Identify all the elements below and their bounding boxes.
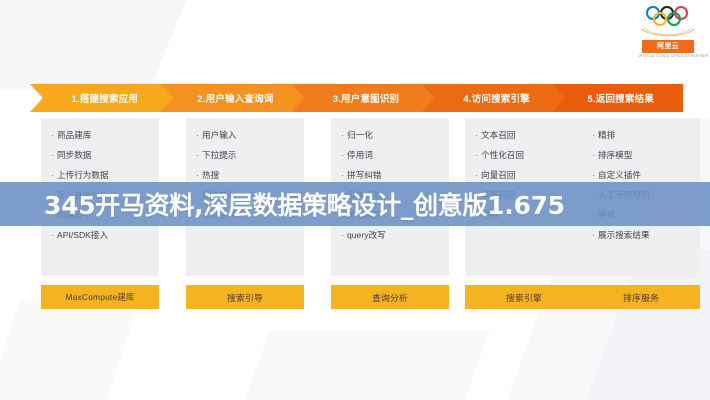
- bullet-item-label: API/SDK接入: [57, 230, 108, 241]
- alibaba-cloud-subtext: OFFICIAL CLOUD SERVICES PARTNER: [638, 54, 698, 58]
- process-step-arrow-label: 1.搭建搜索应用: [66, 91, 139, 105]
- process-step-arrow-label: 5.返回搜索结果: [581, 91, 654, 105]
- service-tag-label: 排序服务: [623, 291, 659, 304]
- service-tag-button[interactable]: 搜索引导: [186, 285, 304, 309]
- bullet-item-label: 上传行为数据: [57, 170, 109, 181]
- bullet-item: ·停用词: [341, 150, 443, 161]
- bullet-item: ·个性化召回: [475, 150, 577, 161]
- process-step-arrow-label: 3.用户意图识别: [327, 91, 400, 105]
- bullet-item: ·文本召回: [475, 130, 577, 141]
- bullet-item: ·展示搜索结果: [592, 230, 694, 241]
- service-tag-button[interactable]: MaxCompute建库: [41, 285, 159, 309]
- olympic-rings-alibaba-cloud-logo: 阿里云 OFFICIAL CLOUD SERVICES PARTNER: [638, 6, 698, 60]
- bullet-item: ·精排: [592, 130, 694, 141]
- process-step-arrow-label: 4.访问搜索引擎: [457, 91, 530, 105]
- background-shape: [230, 330, 490, 400]
- watermark-banner: 345开马资料,深层数据策略设计_创意版1.675: [0, 182, 710, 226]
- bullet-item: ·排序模型: [592, 150, 694, 161]
- bullet-item: ·热搜: [196, 170, 298, 181]
- service-tag-label: 搜索引导: [227, 291, 263, 304]
- process-step-arrow-5[interactable]: 5.返回搜索结果: [552, 84, 683, 112]
- bullet-item-label: 下拉提示: [202, 150, 236, 161]
- bullet-item: ·下拉提示: [196, 150, 298, 161]
- service-tag-label: 查询分析: [372, 291, 408, 304]
- background-shape: [0, 300, 139, 400]
- slide-canvas: 阿里云 OFFICIAL CLOUD SERVICES PARTNER 1.搭建…: [0, 0, 710, 400]
- olympic-rings-icon: [645, 6, 691, 26]
- bullet-item-label: 排序模型: [598, 150, 632, 161]
- service-tag-button[interactable]: 搜索引擎: [465, 285, 583, 309]
- bullet-item: ·向量召回: [475, 170, 577, 181]
- swoosh-icon: [640, 27, 696, 39]
- service-tag-button[interactable]: 排序服务: [582, 285, 700, 309]
- bullet-item: ·query改写: [341, 230, 443, 241]
- service-tag-button[interactable]: 查询分析: [331, 285, 449, 309]
- bullet-item: ·商品建库: [51, 130, 153, 141]
- bullet-item-label: 归一化: [347, 130, 373, 141]
- process-step-arrow-1[interactable]: 1.搭建搜索应用: [30, 84, 174, 112]
- alibaba-cloud-wordmark: 阿里云: [642, 40, 694, 53]
- bullet-item: ·API/SDK接入: [51, 230, 153, 241]
- bullet-item: ·同步数据: [51, 150, 153, 161]
- bullet-item: ·拼写纠错: [341, 170, 443, 181]
- bullet-item: ·自定义插件: [592, 170, 694, 181]
- bullet-item-label: query改写: [347, 230, 386, 241]
- service-tag-label: MaxCompute建库: [66, 291, 135, 303]
- bullet-item-label: 用户输入: [202, 130, 236, 141]
- bullet-item-label: 商品建库: [57, 130, 91, 141]
- bullet-item-label: 精排: [598, 130, 615, 141]
- process-step-arrow-label: 2.用户输入查询词: [191, 91, 273, 105]
- bullet-item: ·归一化: [341, 130, 443, 141]
- bullet-item-label: 拼写纠错: [347, 170, 381, 181]
- process-arrow-ribbon: 1.搭建搜索应用2.用户输入查询词3.用户意图识别4.访问搜索引擎5.返回搜索结…: [30, 84, 683, 112]
- bullet-item-label: 热搜: [202, 170, 219, 181]
- bullet-item-label: 自定义插件: [598, 170, 641, 181]
- bullet-item-label: 停用词: [347, 150, 373, 161]
- process-step-arrow-3[interactable]: 3.用户意图识别: [291, 84, 435, 112]
- bullet-item-label: 同步数据: [57, 150, 91, 161]
- bullet-item: ·上传行为数据: [51, 170, 153, 181]
- process-step-arrow-2[interactable]: 2.用户输入查询词: [161, 84, 305, 112]
- background-shape: [0, 0, 210, 90]
- service-tag-label: 搜索引擎: [506, 291, 542, 304]
- bullet-item: ·用户输入: [196, 130, 298, 141]
- bullet-item-label: 展示搜索结果: [598, 230, 650, 241]
- bullet-item-label: 个性化召回: [481, 150, 524, 161]
- watermark-banner-text: 345开马资料,深层数据策略设计_创意版1.675: [0, 186, 565, 222]
- process-step-arrow-4[interactable]: 4.访问搜索引擎: [422, 84, 566, 112]
- bullet-item-label: 向量召回: [481, 170, 515, 181]
- bullet-item-label: 文本召回: [481, 130, 515, 141]
